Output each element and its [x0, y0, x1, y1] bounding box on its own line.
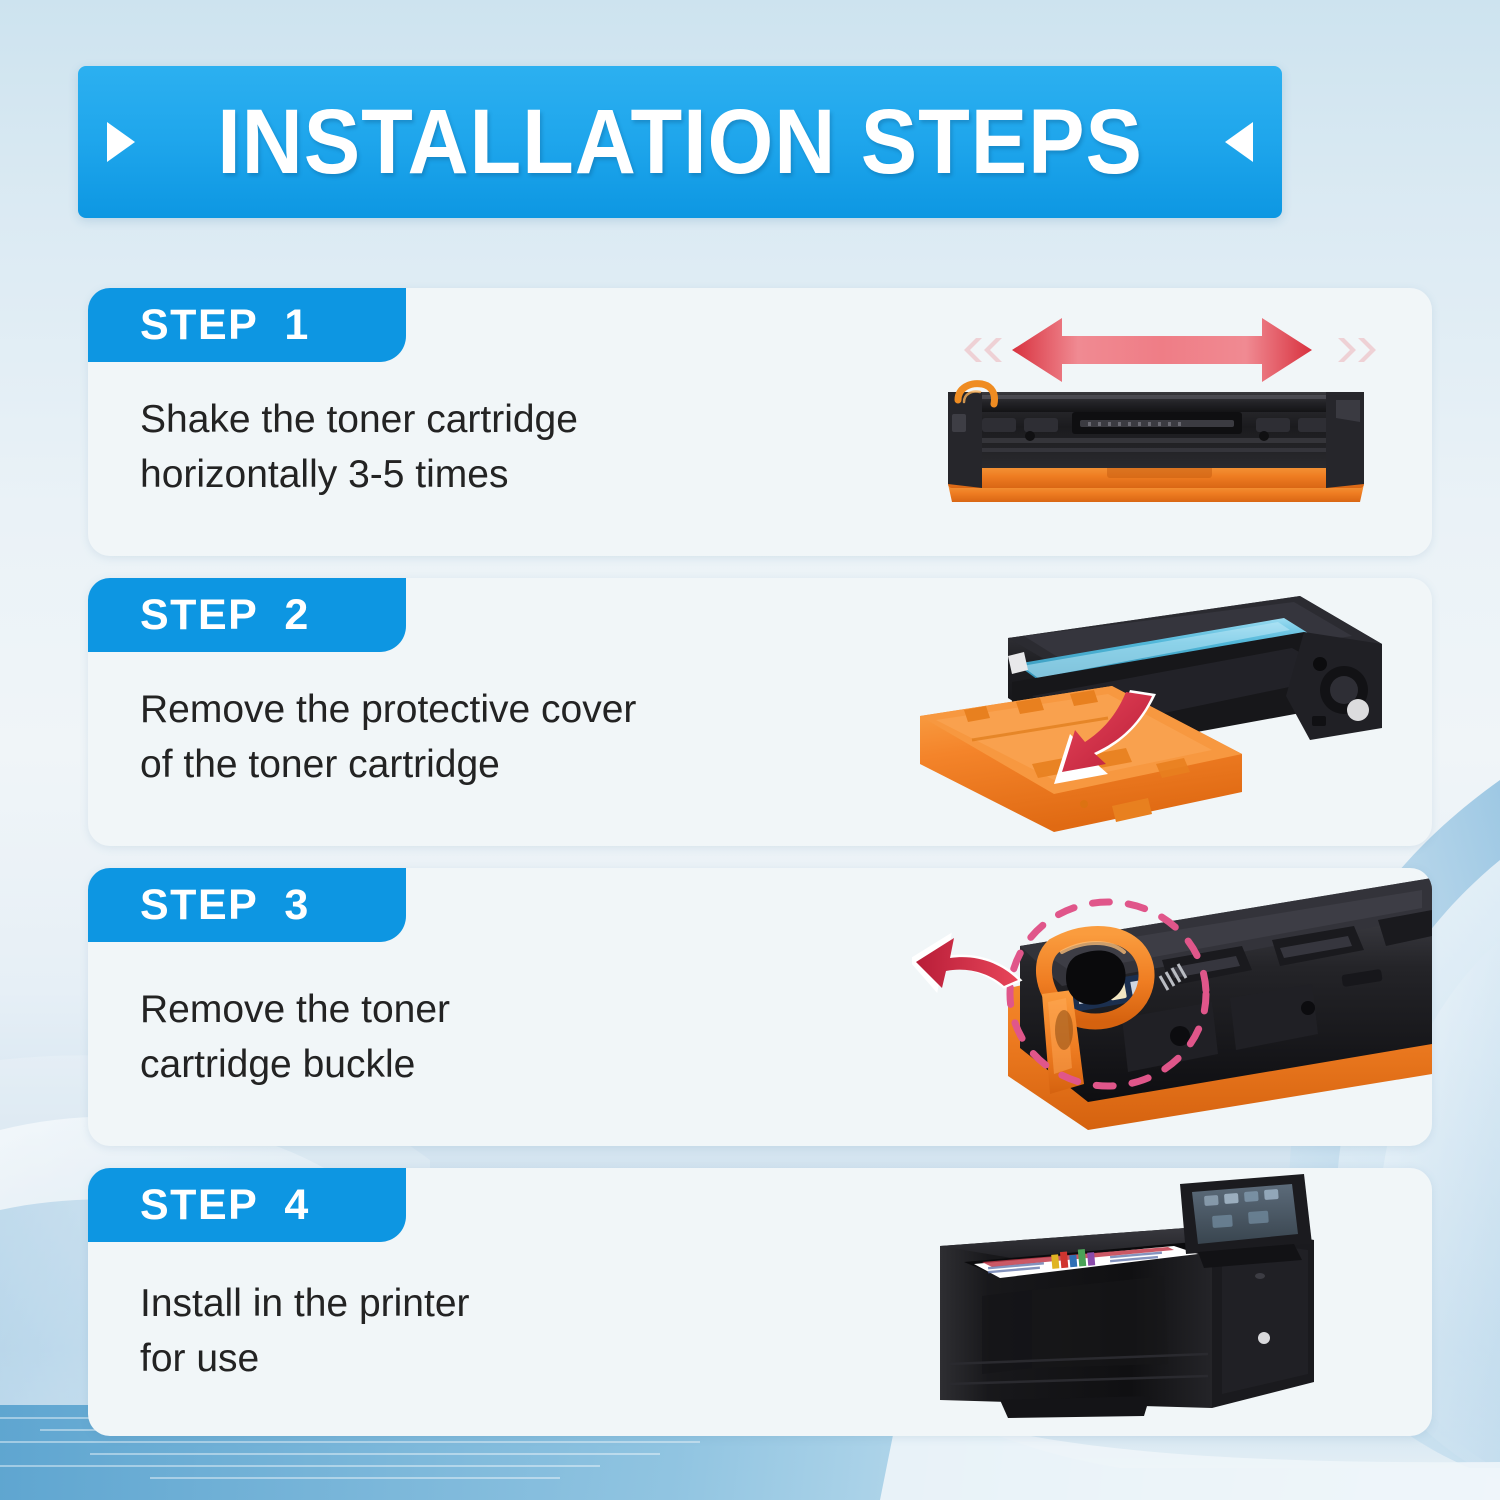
step-2-tab: STEP 2: [88, 578, 406, 652]
step-3-tab-label: STEP 3: [140, 881, 310, 930]
step-4-text: Install in the printer for use: [140, 1276, 920, 1387]
triangle-left-icon: [1225, 122, 1253, 162]
step-2-tab-label: STEP 2: [140, 591, 310, 640]
page-title: INSTALLATION STEPS: [217, 96, 1143, 188]
step-card-1: STEP 1 Shake the toner cartridge horizon…: [88, 288, 1432, 556]
step-card-2: STEP 2 Remove the protective cover of th…: [88, 578, 1432, 846]
step-1-tab: STEP 1: [88, 288, 406, 362]
step-2-text: Remove the protective cover of the toner…: [140, 682, 920, 793]
step-card-3: STEP 3 Remove the toner cartridge buckle: [88, 868, 1432, 1146]
triangle-right-icon: [107, 122, 135, 162]
step-3-illustration: [912, 868, 1432, 1146]
step-3-text: Remove the toner cartridge buckle: [140, 982, 920, 1093]
step-4-tab-label: STEP 4: [140, 1181, 310, 1230]
installation-steps-poster: INSTALLATION STEPS STEP 1 Shake the tone…: [0, 0, 1500, 1500]
step-4-tab: STEP 4: [88, 1168, 406, 1242]
step-1-illustration: [912, 288, 1432, 556]
step-4-illustration: [912, 1168, 1432, 1436]
page-title-banner: INSTALLATION STEPS: [78, 66, 1282, 218]
step-2-illustration: [912, 578, 1432, 846]
step-1-tab-label: STEP 1: [140, 301, 310, 350]
step-1-text: Shake the toner cartridge horizontally 3…: [140, 392, 920, 503]
step-card-4: STEP 4 Install in the printer for use: [88, 1168, 1432, 1436]
step-3-tab: STEP 3: [88, 868, 406, 942]
